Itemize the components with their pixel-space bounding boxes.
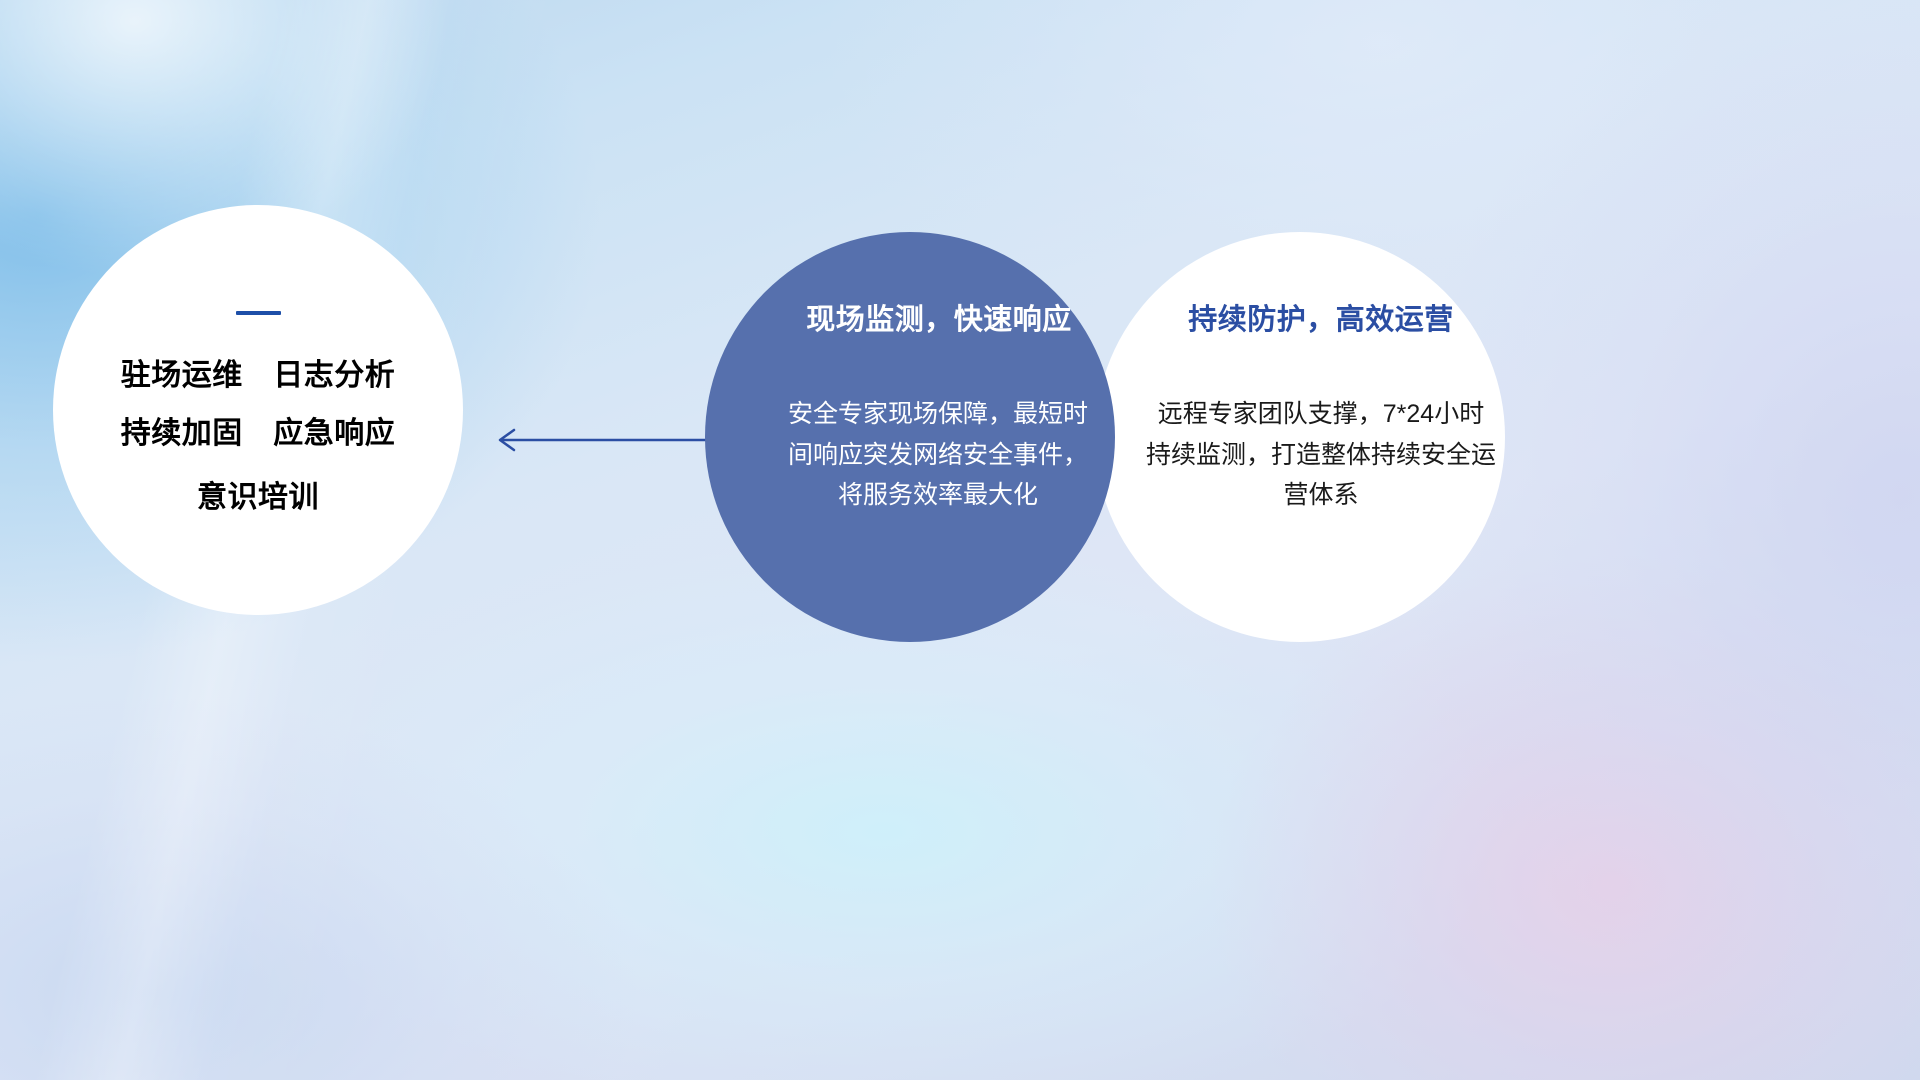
service-capability-content: 驻场运维 日志分析 持续加固 应急响应 意识培训 (53, 205, 463, 615)
continuous-protection-content: 持续防护，高效运营 远程专家团队支撑，7*24小时持续监测，打造整体持续安全运营… (1095, 232, 1505, 642)
service-capability-line-3: 意识培训 (197, 483, 319, 513)
continuous-protection-title: 持续防护，高效运营 (1188, 296, 1454, 338)
divider-dash (236, 311, 281, 315)
service-capability-line-2: 持续加固 应急响应 (121, 419, 396, 449)
slide-canvas: 驻场运维 日志分析 持续加固 应急响应 意识培训 持续防护，高效运营 远程专家团… (0, 0, 1920, 1080)
onsite-monitoring-circle[interactable] (705, 232, 1115, 642)
service-capability-line-1: 驻场运维 日志分析 (121, 361, 396, 391)
continuous-protection-body: 远程专家团队支撑，7*24小时持续监测，打造整体持续安全运营体系 (1146, 394, 1496, 516)
left-pointing-arrow-icon (485, 418, 715, 462)
